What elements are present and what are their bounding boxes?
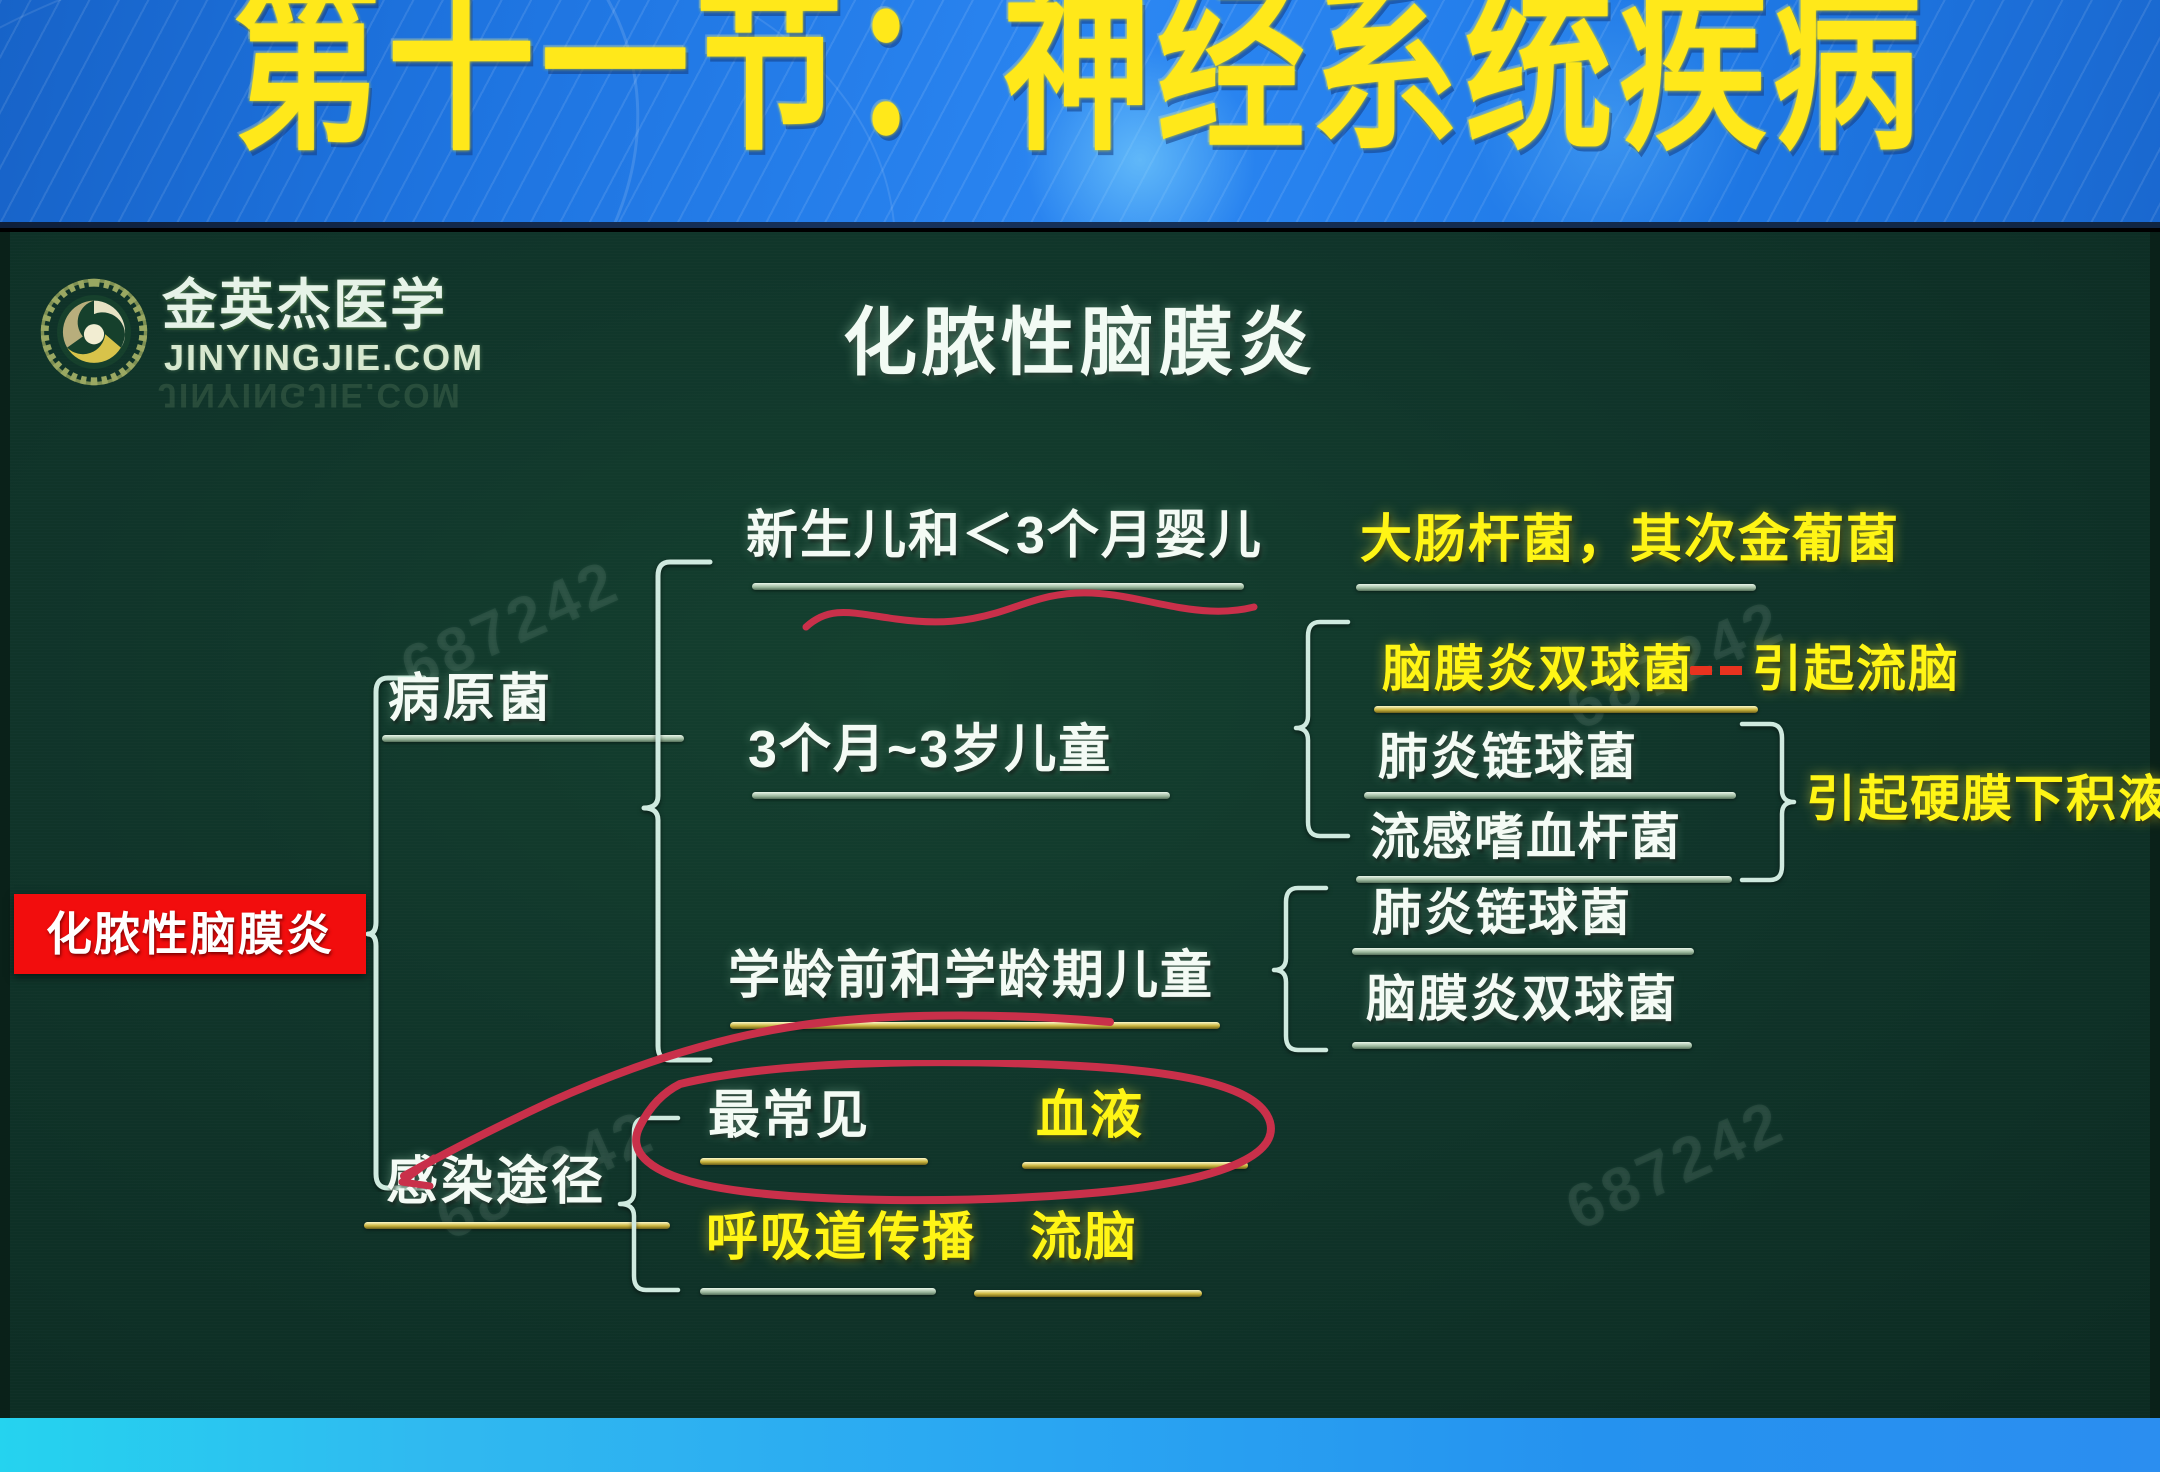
slide-left-edge xyxy=(0,232,10,1418)
brace-pathogens-to-grouped-result xyxy=(1736,718,1800,892)
underline-route-most-common xyxy=(700,1158,928,1165)
brace-schoolage-to-pathogens xyxy=(1268,882,1334,1062)
underline-route-respiratory xyxy=(700,1288,936,1295)
pathogen-infant-1: 脑膜炎双球菌 xyxy=(1382,638,1694,700)
grouped-result-subdural-effusion: 引起硬膜下积液 xyxy=(1806,768,2160,830)
underline-newborn xyxy=(752,583,1244,590)
pathogen-infant-3: 流感嗜血杆菌 xyxy=(1370,806,1682,868)
pathogen-schoolage-2: 脑膜炎双球菌 xyxy=(1366,968,1678,1030)
banner-divider xyxy=(0,222,2160,228)
brace-root-to-branches xyxy=(366,672,438,1192)
root-node-box: 化脓性脑膜炎 xyxy=(14,894,366,974)
underline-pathogen-infant-1 xyxy=(1374,706,1758,713)
pathogen-infant-2: 肺炎链球菌 xyxy=(1378,726,1638,788)
root-node-label: 化脓性脑膜炎 xyxy=(14,894,366,974)
pathogen-newborn-1: 大肠杆菌，其次金葡菌 xyxy=(1360,508,1900,572)
pathogen-schoolage-1: 肺炎链球菌 xyxy=(1372,882,1632,944)
age-group-label-infant: 3个月~3岁儿童 xyxy=(748,718,1112,782)
underline-infant xyxy=(752,792,1170,799)
underline-route-value-blood xyxy=(1022,1162,1248,1169)
brace-pathogen-to-agegroups xyxy=(636,556,720,1066)
banner-title: 第十一节：神经系统疾病 xyxy=(0,0,2160,164)
route-label-respiratory: 呼吸道传播 xyxy=(706,1206,976,1270)
top-banner: 第十一节：神经系统疾病 xyxy=(0,0,2160,228)
page-title: 化脓性脑膜炎 xyxy=(0,300,2160,386)
footer-strip xyxy=(0,1418,2160,1472)
result-liunao: 引起流脑 xyxy=(1752,638,1960,700)
age-group-label-newborn: 新生儿和＜3个月婴儿 xyxy=(746,504,1263,568)
brace-infant-to-pathogens xyxy=(1290,616,1356,848)
underline-pathogen-infant-2 xyxy=(1364,792,1736,799)
branch-label-pathogen: 病原菌 xyxy=(388,668,553,730)
branch-label-route: 感染途径 xyxy=(386,1150,606,1214)
underline-route-value-epidemic xyxy=(974,1290,1202,1297)
underline-pathogen-schoolage-2 xyxy=(1352,1042,1692,1049)
route-value-blood: 血液 xyxy=(1036,1084,1144,1148)
route-value-epidemic-meningitis: 流脑 xyxy=(1030,1206,1138,1270)
underline-pathogen-schoolage-1 xyxy=(1352,948,1694,955)
underline-school-age xyxy=(730,1022,1220,1029)
arrow-dash-to-result xyxy=(1690,666,1744,675)
brace-route-to-items xyxy=(614,1112,686,1302)
underline-pathogen-newborn-1 xyxy=(1356,584,1756,591)
route-label-most-common: 最常见 xyxy=(708,1084,870,1148)
age-group-label-school-age: 学龄前和学龄期儿童 xyxy=(728,944,1214,1008)
